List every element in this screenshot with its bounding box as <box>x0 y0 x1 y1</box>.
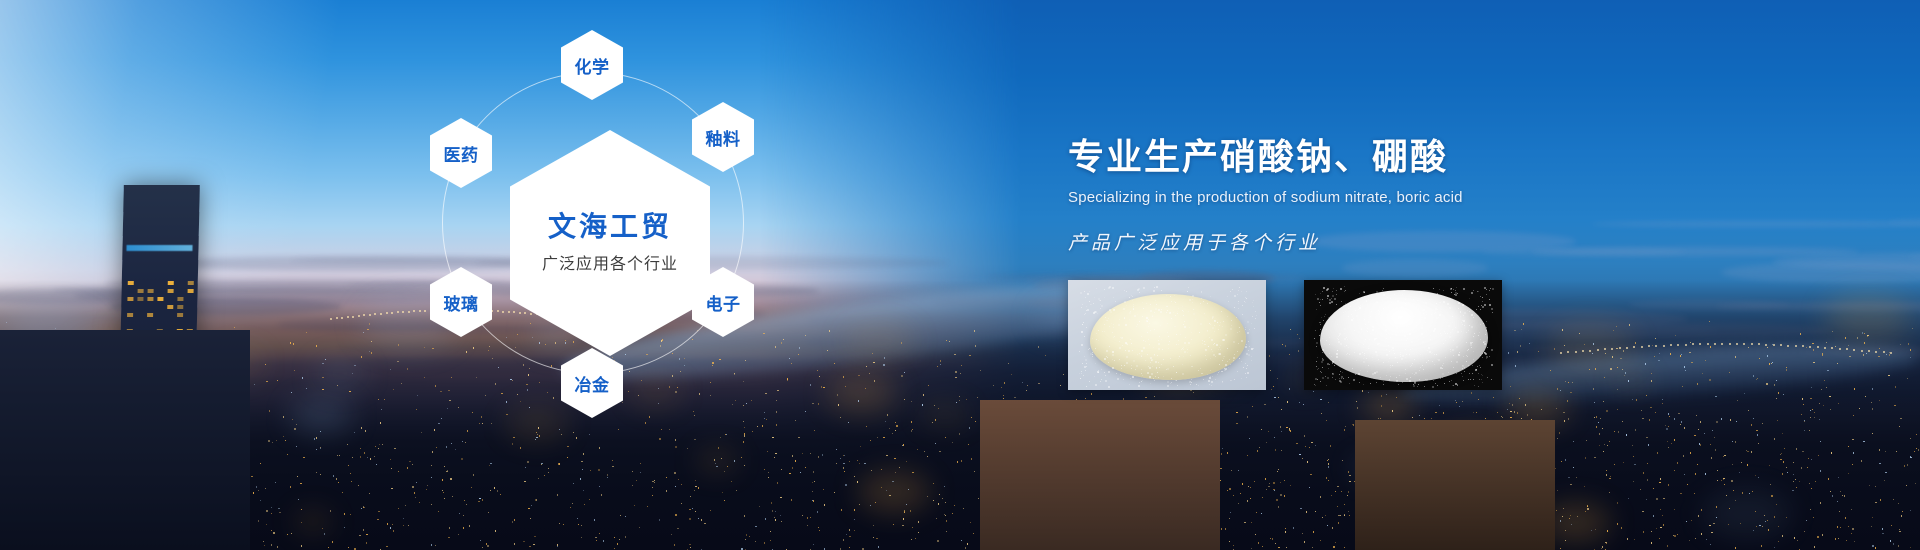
company-name: 文海工贸 <box>548 212 672 243</box>
hex-node-label: 化学 <box>575 53 610 78</box>
promo-banner: 化学 釉料 电子 冶金 玻璃 医药 文海工贸 广泛应用各个行业 专业生产硝酸钠、… <box>0 0 1920 550</box>
product-photo-group <box>1068 280 1502 390</box>
city-lights <box>0 0 1920 550</box>
foreground-block-right-2 <box>1355 420 1555 550</box>
foreground-block-right <box>980 400 1220 550</box>
product-photo-sodium-nitrate <box>1068 280 1266 390</box>
headline-block: 专业生产硝酸钠、硼酸 Specializing in the productio… <box>1068 128 1688 255</box>
hex-node-label: 医药 <box>444 141 479 166</box>
industry-hex-diagram: 化学 釉料 电子 冶金 玻璃 医药 文海工贸 广泛应用各个行业 <box>430 30 790 430</box>
hex-node-label: 冶金 <box>575 371 610 396</box>
tagline-chinese: 产品广泛应用于各个行业 <box>1068 228 1688 255</box>
hex-node-label: 玻璃 <box>444 290 479 315</box>
product-photo-boric-acid <box>1304 280 1502 390</box>
headline-chinese: 专业生产硝酸钠、硼酸 <box>1068 128 1688 180</box>
foreground-block-left <box>0 330 250 550</box>
background-cityscape <box>0 0 1920 550</box>
hex-node-label: 电子 <box>706 290 741 315</box>
headline-english: Specializing in the production of sodium… <box>1068 189 1688 206</box>
hex-node-label: 釉料 <box>706 125 741 150</box>
company-tagline: 广泛应用各个行业 <box>542 250 678 274</box>
